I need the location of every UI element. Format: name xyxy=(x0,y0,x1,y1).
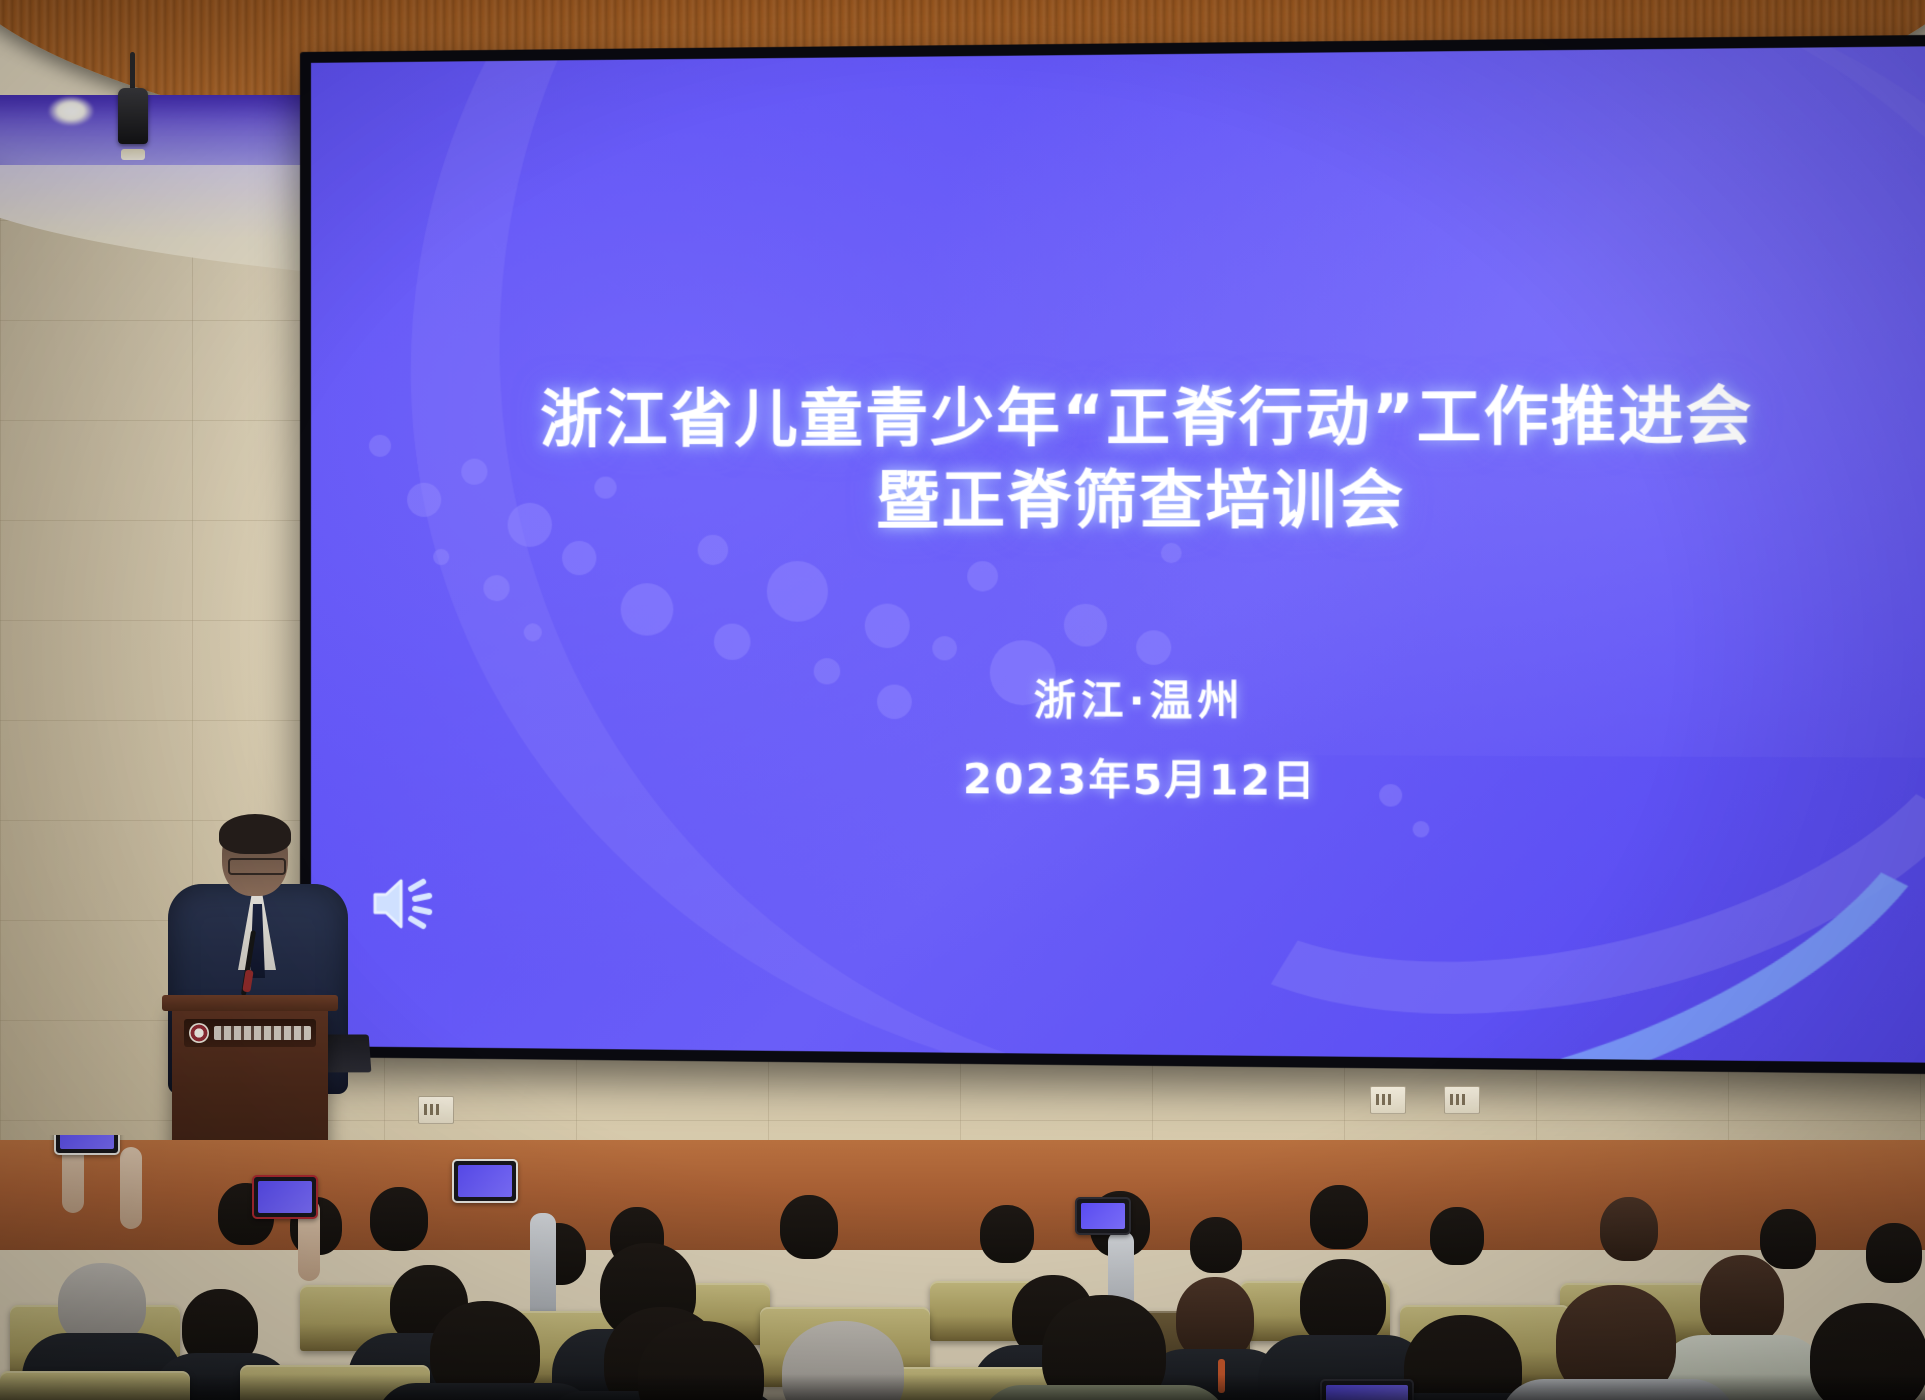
podium-plaque-text xyxy=(214,1026,311,1040)
audience-area xyxy=(0,1135,1925,1400)
smartphone xyxy=(1075,1197,1131,1235)
raised-arm xyxy=(530,1213,556,1323)
raised-arm xyxy=(120,1147,142,1229)
audience-head xyxy=(980,1205,1034,1263)
slide-title: 浙江省儿童青少年“正脊行动”工作推进会 暨正脊筛查培训会 xyxy=(540,376,1753,542)
audience-head xyxy=(780,1195,838,1259)
stage-spotlight xyxy=(118,52,148,160)
podium-top-surface xyxy=(162,995,338,1011)
slide-title-line-2: 暨正脊筛查培训会 xyxy=(540,459,1753,542)
eyeglasses xyxy=(228,858,286,875)
smartphone xyxy=(452,1159,518,1203)
foreground-shadow xyxy=(0,1374,1925,1400)
audience-head xyxy=(1700,1255,1784,1345)
audience-head xyxy=(370,1187,428,1251)
slide-title-line-1: 浙江省儿童青少年“正脊行动”工作推进会 xyxy=(540,379,1753,457)
smartphone xyxy=(54,1135,120,1155)
audience-head xyxy=(1430,1207,1484,1265)
slide-text-block: 浙江省儿童青少年“正脊行动”工作推进会 暨正脊筛查培训会 浙江·温州 2023年… xyxy=(311,46,1925,1064)
audience-head xyxy=(1190,1217,1242,1273)
slide-location: 浙江·温州 xyxy=(1034,666,1245,728)
presentation-slide: 浙江省儿童青少年“正脊行动”工作推进会 暨正脊筛查培训会 浙江·温州 2023年… xyxy=(311,46,1925,1064)
led-screen-frame: 浙江省儿童青少年“正脊行动”工作推进会 暨正脊筛查培训会 浙江·温州 2023年… xyxy=(300,34,1925,1075)
institution-emblem-icon xyxy=(189,1023,209,1043)
audience-head xyxy=(1600,1197,1658,1261)
audience-head xyxy=(1300,1259,1386,1347)
smartphone xyxy=(252,1175,318,1219)
slide-date: 2023年5月12日 xyxy=(963,745,1317,808)
audience-head xyxy=(1310,1185,1368,1249)
wall-outlet xyxy=(1444,1086,1480,1114)
audience-head xyxy=(1760,1209,1816,1269)
audience-head xyxy=(1866,1223,1922,1283)
podium-plaque xyxy=(184,1019,316,1047)
photo-canvas: 浙江省儿童青少年“正脊行动”工作推进会 暨正脊筛查培训会 浙江·温州 2023年… xyxy=(0,0,1925,1400)
downlight xyxy=(48,96,94,126)
wall-outlet xyxy=(418,1096,454,1124)
speaker-hair xyxy=(219,814,291,854)
wall-outlet xyxy=(1370,1086,1406,1114)
